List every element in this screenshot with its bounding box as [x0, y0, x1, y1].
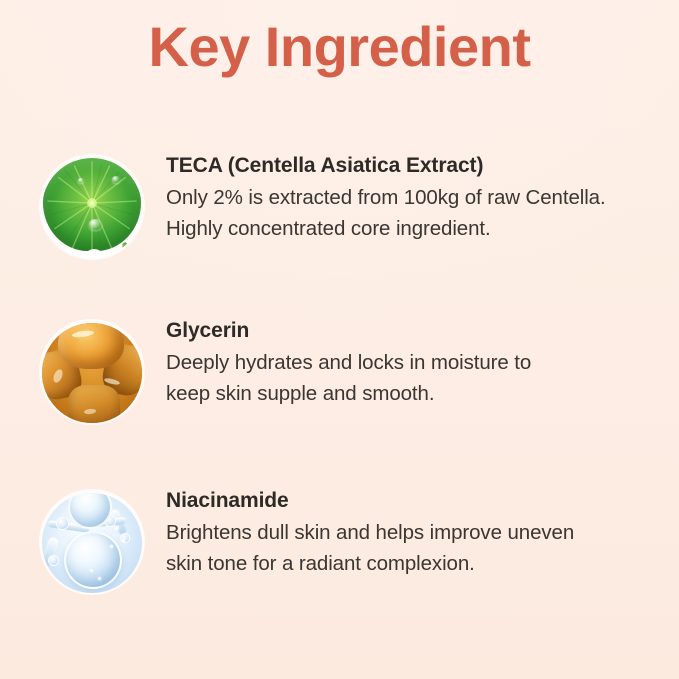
ingredient-row-glycerin: Glycerin Deeply hydrates and locks in mo… — [40, 317, 640, 425]
niacinamide-bubbles-photo — [42, 493, 142, 593]
ingredient-description: Deeply hydrates and locks in moisture to… — [166, 347, 640, 409]
centella-leaf-photo — [42, 158, 142, 258]
page-title: Key Ingredient — [0, 12, 679, 82]
ingredient-text-teca: TECA (Centella Asiatica Extract) Only 2%… — [144, 152, 640, 245]
water-droplet — [89, 219, 102, 229]
niacinamide-thumbnail — [40, 487, 144, 595]
air-bubble — [98, 577, 101, 580]
ingredient-name: TECA (Centella Asiatica Extract) — [166, 152, 640, 179]
ingredient-row-niacinamide: Niacinamide Brightens dull skin and help… — [40, 487, 640, 595]
ingredient-description: Brightens dull skin and helps improve un… — [166, 517, 640, 579]
ingredient-description: Only 2% is extracted from 100kg of raw C… — [166, 182, 640, 244]
ingredient-name: Glycerin — [166, 317, 640, 344]
centella-leaf-thumbnail — [40, 152, 144, 260]
glycerin-crystal — [68, 385, 120, 423]
molecule-node — [48, 555, 59, 566]
molecule-node — [56, 517, 69, 530]
leaf-body — [43, 158, 141, 251]
leaf-veins-icon — [43, 158, 141, 256]
glycerin-thumbnail — [40, 317, 144, 425]
water-sphere — [64, 531, 122, 589]
ingredient-text-niacinamide: Niacinamide Brightens dull skin and help… — [144, 487, 640, 580]
air-bubble — [115, 526, 119, 530]
glycerin-crystals-photo — [42, 323, 142, 423]
leaf-notch — [86, 248, 103, 258]
ingredient-text-glycerin: Glycerin Deeply hydrates and locks in mo… — [144, 317, 640, 410]
air-bubble — [110, 545, 113, 548]
ingredient-name: Niacinamide — [166, 487, 640, 514]
ingredient-infographic: Key Ingredient — [0, 0, 679, 679]
ingredient-row-teca: TECA (Centella Asiatica Extract) Only 2%… — [40, 152, 640, 260]
air-bubble — [90, 569, 93, 572]
air-bubble — [122, 539, 125, 542]
